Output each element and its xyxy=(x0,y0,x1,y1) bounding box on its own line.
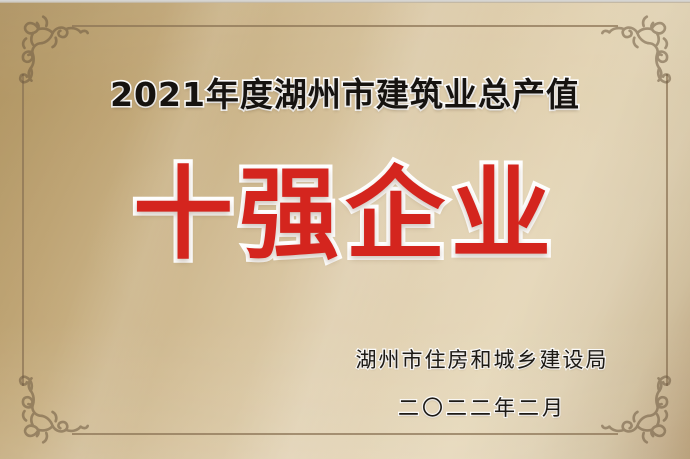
plaque-signature-block: 湖州市住房和城乡建设局 二〇二二年二月 xyxy=(322,344,642,422)
award-plaque: 2021年度湖州市建筑业总产值 十强企业 湖州市住房和城乡建设局 二〇二二年二月 xyxy=(0,0,690,459)
issuing-authority: 湖州市住房和城乡建设局 xyxy=(322,344,642,374)
frame-line-bottom xyxy=(72,433,618,435)
plaque-title: 2021年度湖州市建筑业总产值 xyxy=(0,74,690,115)
corner-ornament-bottom-left-icon xyxy=(12,369,90,447)
plaque-headline: 十强企业 xyxy=(0,160,690,270)
issue-date: 二〇二二年二月 xyxy=(322,392,642,422)
frame-line-top xyxy=(72,25,618,27)
plaque-top-edge-strip xyxy=(0,0,690,3)
